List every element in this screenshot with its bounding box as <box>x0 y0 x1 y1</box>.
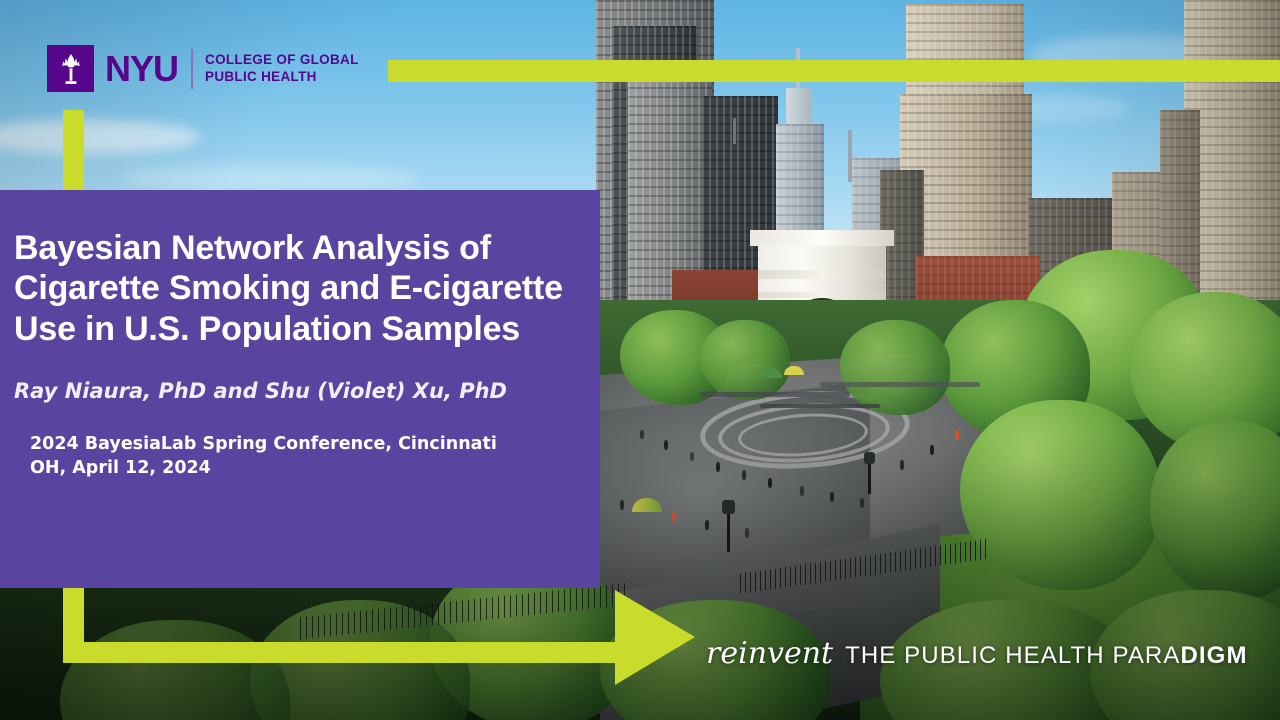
logo-divider <box>191 49 193 89</box>
school-line-1: COLLEGE OF GLOBAL <box>205 52 359 68</box>
tagline-rest-light: THE PUBLIC HEALTH PARA <box>845 642 1180 669</box>
authors: Ray Niaura, PhD and Shu (Violet) Xu, PhD <box>14 379 570 403</box>
nyu-logo: NYU COLLEGE OF GLOBAL PUBLIC HEALTH <box>47 45 359 92</box>
title-slide: Bayesian Network Analysis of Cigarette S… <box>0 0 1280 720</box>
green-right-arrow <box>55 585 705 693</box>
event-line-1: 2024 BayesiaLab Spring Conference, Cinci… <box>30 433 570 456</box>
tagline: reinvent THE PUBLIC HEALTH PARADIGM <box>706 636 1248 671</box>
green-vertical-bar <box>63 110 84 192</box>
event-info: 2024 BayesiaLab Spring Conference, Cinci… <box>30 433 570 480</box>
page-title: Bayesian Network Analysis of Cigarette S… <box>14 228 570 349</box>
nyu-wordmark: NYU <box>105 51 178 87</box>
event-line-2: OH, April 12, 2024 <box>30 457 570 480</box>
tagline-rest-bold: DIGM <box>1180 642 1247 669</box>
tagline-rest: THE PUBLIC HEALTH PARADIGM <box>845 642 1247 670</box>
school-name: COLLEGE OF GLOBAL PUBLIC HEALTH <box>205 52 359 85</box>
green-horizontal-bar <box>388 60 1280 82</box>
school-line-2: PUBLIC HEALTH <box>205 69 359 85</box>
nyu-torch-icon <box>47 45 94 92</box>
tagline-script-word: reinvent <box>706 636 833 671</box>
title-panel: Bayesian Network Analysis of Cigarette S… <box>0 190 600 588</box>
